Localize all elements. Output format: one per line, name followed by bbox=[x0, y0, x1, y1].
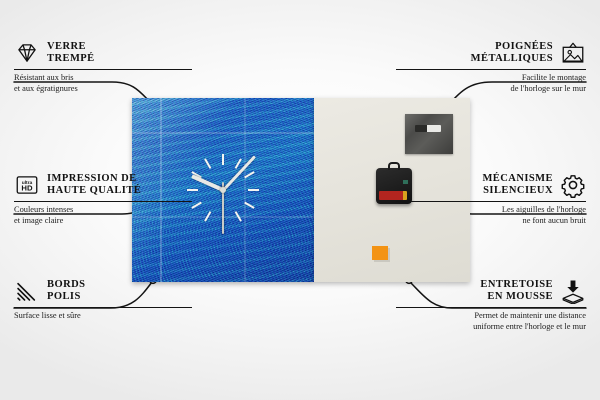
hour-marker bbox=[222, 154, 224, 226]
callout-header: BORDS POLIS bbox=[14, 278, 204, 304]
divider bbox=[396, 69, 586, 70]
divider bbox=[14, 201, 192, 202]
callout-impression-haute-qualite: ultra HD IMPRESSION DE HAUTE QUALITÉ Cou… bbox=[14, 172, 204, 226]
callout-title: POIGNÉES MÉTALLIQUES bbox=[471, 41, 553, 66]
svg-text:HD: HD bbox=[21, 184, 33, 193]
callout-header: MÉCANISME SILENCIEUX bbox=[396, 172, 586, 198]
callout-entretoise-en-mousse: ENTRETOISE EN MOUSSE Permet de maintenir… bbox=[396, 278, 586, 332]
diamond-icon bbox=[14, 40, 40, 66]
hour-marker bbox=[204, 158, 242, 221]
hanger-slot bbox=[415, 125, 441, 132]
callout-poignees-metalliques: POIGNÉES MÉTALLIQUES Facilite le montage… bbox=[396, 40, 586, 94]
callout-verre-trempe: VERRE TREMPÉ Résistant aux bris et aux é… bbox=[14, 40, 204, 94]
clock-center-pin bbox=[220, 187, 226, 193]
gear-icon bbox=[560, 172, 586, 198]
callout-description: Surface lisse et sûre bbox=[14, 311, 204, 321]
callout-header: POIGNÉES MÉTALLIQUES bbox=[396, 40, 586, 66]
foam-spacer bbox=[372, 246, 388, 260]
callout-bords-polis: BORDS POLIS Surface lisse et sûre bbox=[14, 278, 204, 322]
clock-minute-hand bbox=[222, 155, 256, 191]
metal-hanger-plate bbox=[405, 114, 453, 154]
callout-header: VERRE TREMPÉ bbox=[14, 40, 204, 66]
callout-title: BORDS POLIS bbox=[47, 279, 85, 304]
callout-title: IMPRESSION DE HAUTE QUALITÉ bbox=[47, 173, 141, 198]
clock-second-hand bbox=[222, 182, 223, 234]
callout-description: Les aiguilles de l'horloge ne font aucun… bbox=[396, 205, 586, 226]
hour-marker bbox=[204, 158, 242, 221]
divider bbox=[14, 69, 192, 70]
callout-description: Résistant aux bris et aux égratignures bbox=[14, 73, 204, 94]
callout-header: ultra HD IMPRESSION DE HAUTE QUALITÉ bbox=[14, 172, 204, 198]
picture-hanger-icon bbox=[560, 40, 586, 66]
spacer-press-icon bbox=[560, 278, 586, 304]
divider bbox=[396, 307, 586, 308]
callout-mecanisme-silencieux: MÉCANISME SILENCIEUX Les aiguilles de l'… bbox=[396, 172, 586, 226]
ultra-hd-icon: ultra HD bbox=[14, 172, 40, 198]
polished-edge-icon bbox=[14, 278, 40, 304]
hour-marker bbox=[222, 154, 224, 226]
callout-title: ENTRETOISE EN MOUSSE bbox=[480, 279, 553, 304]
hour-marker bbox=[204, 158, 242, 221]
callout-title: MÉCANISME SILENCIEUX bbox=[482, 173, 553, 198]
callout-description: Permet de maintenir une distance uniform… bbox=[396, 311, 586, 332]
divider bbox=[14, 307, 192, 308]
hour-marker bbox=[204, 158, 242, 221]
callout-description: Couleurs intenses et image claire bbox=[14, 205, 204, 226]
infographic-canvas: VERRE TREMPÉ Résistant aux bris et aux é… bbox=[0, 0, 600, 400]
callout-title: VERRE TREMPÉ bbox=[47, 41, 95, 66]
callout-description: Facilite le montage de l'horloge sur le … bbox=[396, 73, 586, 94]
divider bbox=[396, 201, 586, 202]
mechanism-hook bbox=[388, 162, 400, 170]
callout-header: ENTRETOISE EN MOUSSE bbox=[396, 278, 586, 304]
